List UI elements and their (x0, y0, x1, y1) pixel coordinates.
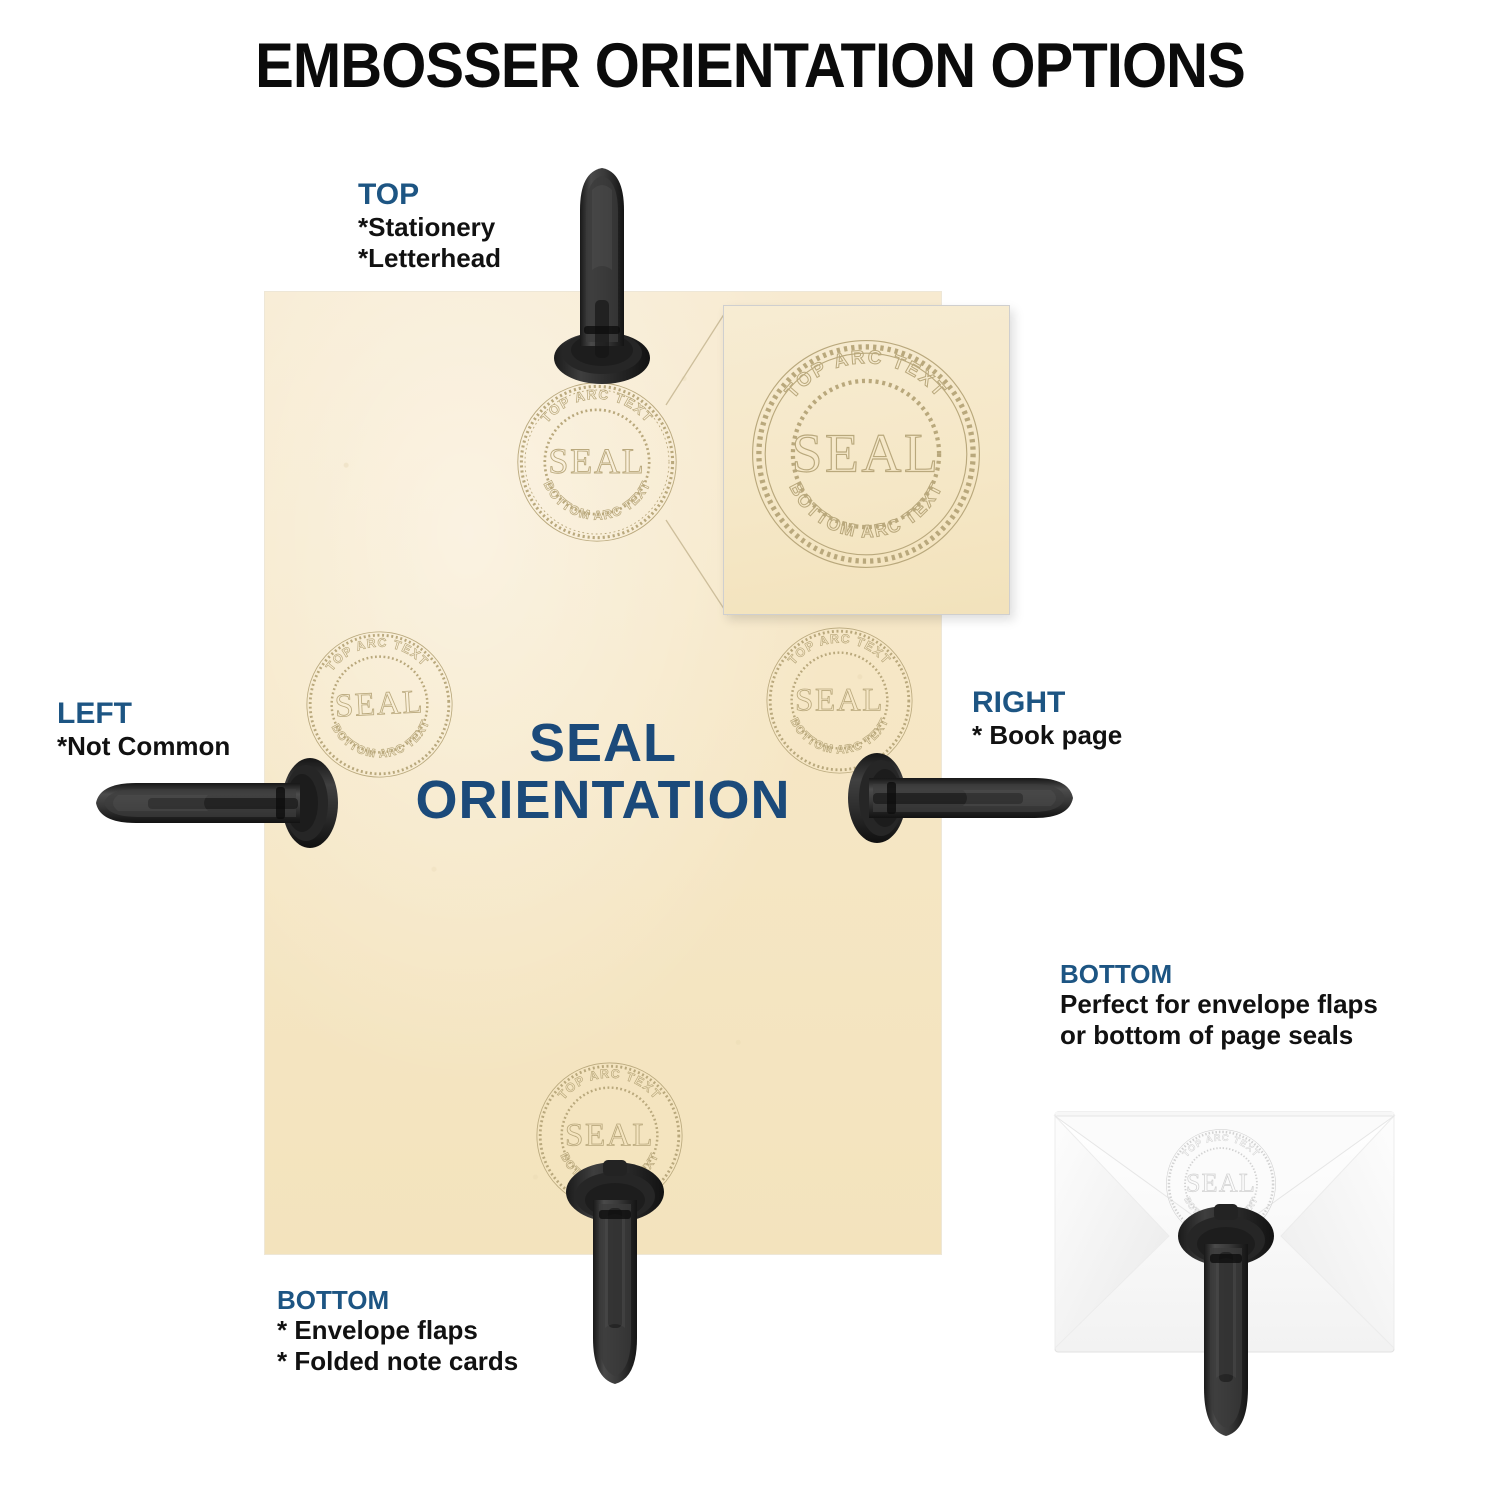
svg-text:TOP ARC TEXT: TOP ARC TEXT (555, 1067, 663, 1103)
infographic-canvas: EMBOSSER ORIENTATION OPTIONS TOP ARC TEX… (0, 0, 1500, 1500)
label-right-line1: * Book page (972, 720, 1122, 751)
seal-top-arc-text: TOP ARC TEXT (322, 633, 432, 674)
label-right-heading: RIGHT (972, 686, 1122, 720)
label-right: RIGHT * Book page (972, 686, 1122, 751)
seal-bottom-arc-text: BOTTOM ARC TEXT (788, 716, 892, 756)
label-bottom-page-line2: * Folded note cards (277, 1346, 518, 1377)
seal-top-arc-text: TOP ARC TEXT (1180, 1132, 1261, 1158)
embosser-left[interactable] (88, 757, 350, 849)
label-bottom-page-line1: * Envelope flaps (277, 1315, 518, 1346)
label-top: TOP *Stationery *Letterhead (358, 178, 501, 274)
svg-text:TOP ARC TEXT: TOP ARC TEXT (322, 633, 432, 674)
label-top-line1: *Stationery (358, 212, 501, 243)
page-title: EMBOSSER ORIENTATION OPTIONS (60, 30, 1440, 102)
embosser-top[interactable] (540, 150, 664, 390)
label-bottom-envelope-heading: BOTTOM (1060, 960, 1378, 989)
seal-top-arc-text: TOP ARC TEXT (781, 347, 950, 403)
svg-text:TOP ARC TEXT: TOP ARC TEXT (1180, 1132, 1261, 1158)
label-bottom-page: BOTTOM * Envelope flaps * Folded note ca… (277, 1286, 518, 1377)
seal-bottom-arc-text: BOTTOM ARC TEXT (785, 479, 946, 542)
seal-top-arc-text: TOP ARC TEXT (555, 1067, 663, 1103)
svg-text:BOTTOM ARC TEXT: BOTTOM ARC TEXT (785, 479, 946, 542)
label-bottom-envelope: BOTTOM Perfect for envelope flaps or bot… (1060, 960, 1378, 1051)
embosser-envelope[interactable] (1166, 1188, 1286, 1450)
seal-top-arc-text: TOP ARC TEXT (785, 632, 893, 668)
label-bottom-page-heading: BOTTOM (277, 1286, 518, 1315)
seal-impression-magnified: TOP ARC TEXT BOTTOM ARC TEXT SEAL (740, 328, 992, 580)
label-left-heading: LEFT (57, 697, 230, 731)
label-top-heading: TOP (358, 178, 501, 212)
label-bottom-envelope-line2: or bottom of page seals (1060, 1020, 1378, 1051)
seal-center-text: SEAL (334, 684, 425, 725)
label-left: LEFT *Not Common (57, 697, 230, 762)
seal-center-text: SEAL (795, 682, 884, 718)
embosser-right[interactable] (843, 752, 1081, 844)
embosser-bottom[interactable] (553, 1148, 677, 1398)
label-top-line2: *Letterhead (358, 243, 501, 274)
seal-center-text: SEAL (792, 423, 941, 484)
svg-text:BOTTOM ARC TEXT: BOTTOM ARC TEXT (788, 716, 892, 756)
svg-text:TOP ARC TEXT: TOP ARC TEXT (781, 347, 950, 403)
label-bottom-envelope-line1: Perfect for envelope flaps (1060, 989, 1378, 1020)
svg-text:TOP ARC TEXT: TOP ARC TEXT (785, 632, 893, 668)
magnified-seal-callout: TOP ARC TEXT BOTTOM ARC TEXT SEAL (723, 305, 1010, 615)
